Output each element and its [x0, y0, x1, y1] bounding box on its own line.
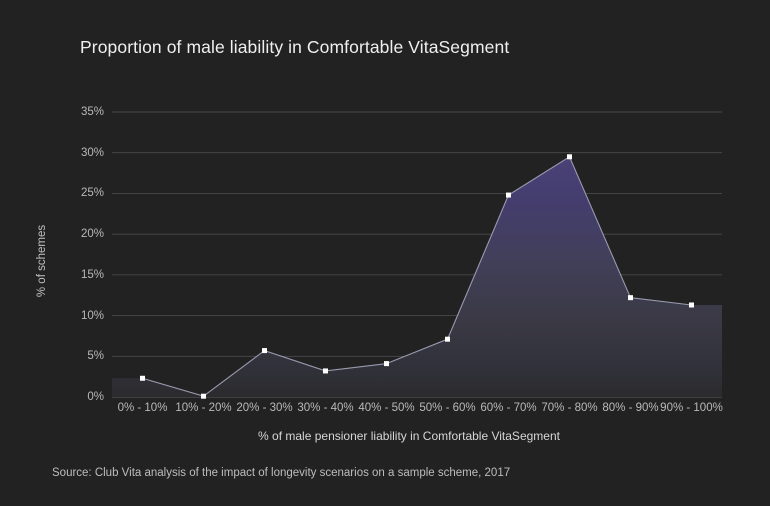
x-axis-tick-label: 70% - 80% [541, 402, 597, 414]
y-axis-tick-label: 20% [81, 228, 104, 240]
y-axis-tick-label: 30% [81, 147, 104, 159]
data-point-marker[interactable] [384, 361, 389, 366]
area-chart-svg [112, 112, 722, 397]
data-point-marker[interactable] [140, 376, 145, 381]
y-axis-tick-label: 10% [81, 310, 104, 322]
x-axis-tick-labels: 0% - 10%10% - 20%20% - 30%30% - 40%40% -… [112, 402, 722, 420]
y-axis-tick-label: 35% [81, 106, 104, 118]
y-axis-title: % of schemes [36, 225, 48, 297]
page-title: Proportion of male liability in Comforta… [80, 37, 509, 58]
x-axis-tick-label: 30% - 40% [297, 402, 353, 414]
data-point-marker[interactable] [689, 302, 694, 307]
x-axis-tick-label: 20% - 30% [236, 402, 292, 414]
y-axis-tick-label: 5% [87, 350, 104, 362]
x-axis-tick-label: 40% - 50% [358, 402, 414, 414]
plot-area [112, 112, 722, 397]
data-point-marker[interactable] [628, 295, 633, 300]
data-point-marker[interactable] [445, 337, 450, 342]
source-note: Source: Club Vita analysis of the impact… [52, 467, 510, 479]
y-axis-tick-label: 25% [81, 187, 104, 199]
area-fill [112, 157, 722, 397]
x-axis-tick-label: 90% - 100% [660, 402, 723, 414]
y-axis-tick-labels: 0%5%10%15%20%25%30%35% [58, 112, 104, 397]
chart-page: Proportion of male liability in Comforta… [0, 0, 770, 506]
data-point-marker[interactable] [323, 368, 328, 373]
x-axis-tick-label: 80% - 90% [602, 402, 658, 414]
data-point-marker[interactable] [567, 154, 572, 159]
x-axis-tick-label: 50% - 60% [419, 402, 475, 414]
x-axis-tick-label: 10% - 20% [175, 402, 231, 414]
data-point-marker[interactable] [201, 394, 206, 399]
x-axis-tick-label: 0% - 10% [118, 402, 168, 414]
y-axis-tick-label: 15% [81, 269, 104, 281]
y-axis-tick-label: 0% [87, 391, 104, 403]
data-point-marker[interactable] [262, 348, 267, 353]
x-axis-title: % of male pensioner liability in Comfort… [0, 429, 770, 443]
data-point-marker[interactable] [506, 193, 511, 198]
x-axis-tick-label: 60% - 70% [480, 402, 536, 414]
